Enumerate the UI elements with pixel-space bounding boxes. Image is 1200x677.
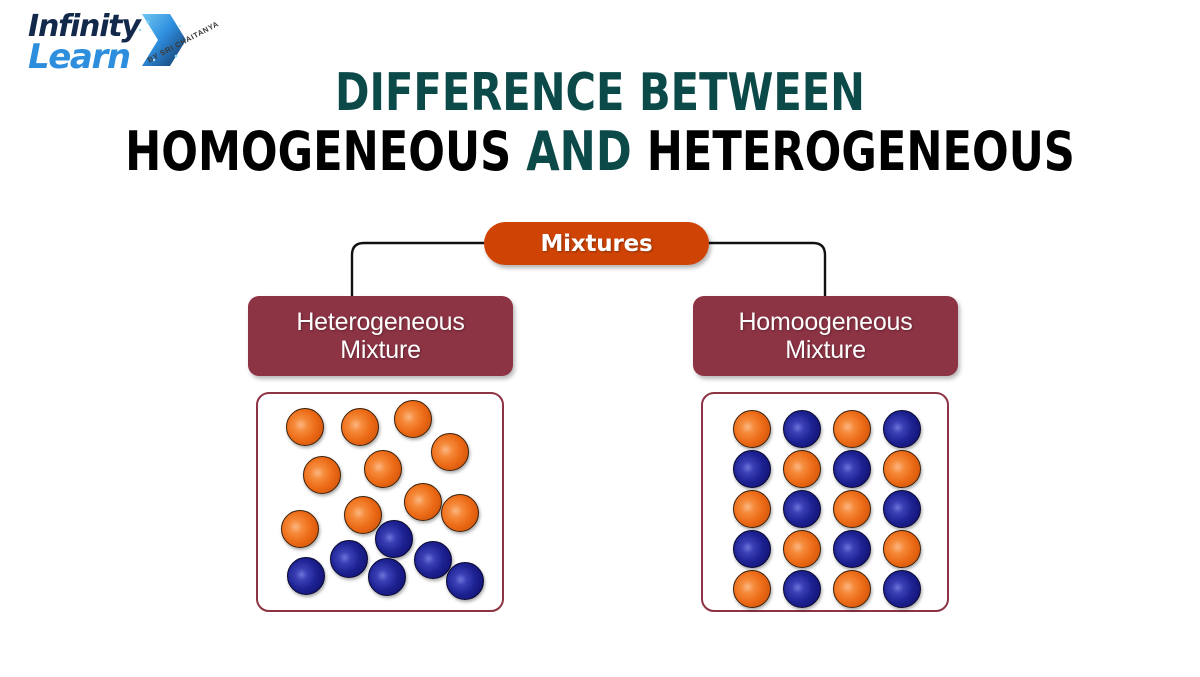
particle-orange bbox=[733, 490, 771, 528]
particle-orange bbox=[833, 490, 871, 528]
diagram-node-mixtures-label: Mixtures bbox=[540, 231, 652, 257]
particle-blue bbox=[783, 570, 821, 608]
heterogeneous-particle-box bbox=[256, 392, 504, 612]
particle-blue bbox=[733, 450, 771, 488]
particle-orange bbox=[733, 410, 771, 448]
headline-line-2: HOMOGENEOUS AND HETEROGENEOUS bbox=[120, 124, 1080, 180]
particle-orange bbox=[783, 530, 821, 568]
page-title: DIFFERENCE BETWEEN HOMOGENEOUS AND HETER… bbox=[0, 66, 1200, 180]
particle-blue bbox=[287, 557, 325, 595]
particle-orange bbox=[883, 530, 921, 568]
particle-orange bbox=[733, 570, 771, 608]
particle-orange bbox=[441, 494, 479, 532]
headline-word-and: AND bbox=[526, 120, 631, 183]
particle-blue bbox=[883, 410, 921, 448]
diagram-node-homogeneous-label-line1: Homoogeneous bbox=[738, 308, 912, 336]
headline-line-1: DIFFERENCE BETWEEN bbox=[120, 66, 1080, 120]
particle-blue bbox=[368, 558, 406, 596]
particle-orange bbox=[394, 400, 432, 438]
particle-blue bbox=[375, 520, 413, 558]
particle-orange bbox=[833, 570, 871, 608]
particle-orange bbox=[341, 408, 379, 446]
particle-blue bbox=[330, 540, 368, 578]
particle-blue bbox=[446, 562, 484, 600]
particle-blue bbox=[783, 410, 821, 448]
particle-blue bbox=[733, 530, 771, 568]
diagram-node-mixtures[interactable]: Mixtures bbox=[484, 222, 709, 265]
particle-orange bbox=[344, 496, 382, 534]
particle-blue bbox=[783, 490, 821, 528]
diagram-node-heterogeneous-label-line2: Mixture bbox=[340, 336, 421, 364]
diagram-node-homogeneous[interactable]: Homoogeneous Mixture bbox=[693, 296, 958, 376]
homogeneous-particle-box bbox=[701, 392, 949, 612]
particle-orange bbox=[286, 408, 324, 446]
particle-blue bbox=[833, 450, 871, 488]
diagram-node-heterogeneous[interactable]: Heterogeneous Mixture bbox=[248, 296, 513, 376]
particle-orange bbox=[783, 450, 821, 488]
particle-orange bbox=[404, 483, 442, 521]
diagram-node-homogeneous-label-line2: Mixture bbox=[785, 336, 866, 364]
particle-orange bbox=[364, 450, 402, 488]
particle-blue bbox=[883, 490, 921, 528]
particle-blue bbox=[833, 530, 871, 568]
diagram-node-heterogeneous-label-line1: Heterogeneous bbox=[296, 308, 464, 336]
headline-word-homogeneous: HOMOGENEOUS bbox=[125, 120, 526, 183]
particle-orange bbox=[431, 433, 469, 471]
particle-blue bbox=[883, 570, 921, 608]
particle-orange bbox=[833, 410, 871, 448]
headline-word-heterogeneous: HETEROGENEOUS bbox=[632, 120, 1075, 183]
poster-canvas: Infinity Learn BY SRI CHAITANYA DIFFEREN… bbox=[0, 0, 1200, 677]
particle-orange bbox=[303, 456, 341, 494]
particle-orange bbox=[281, 510, 319, 548]
particle-orange bbox=[883, 450, 921, 488]
